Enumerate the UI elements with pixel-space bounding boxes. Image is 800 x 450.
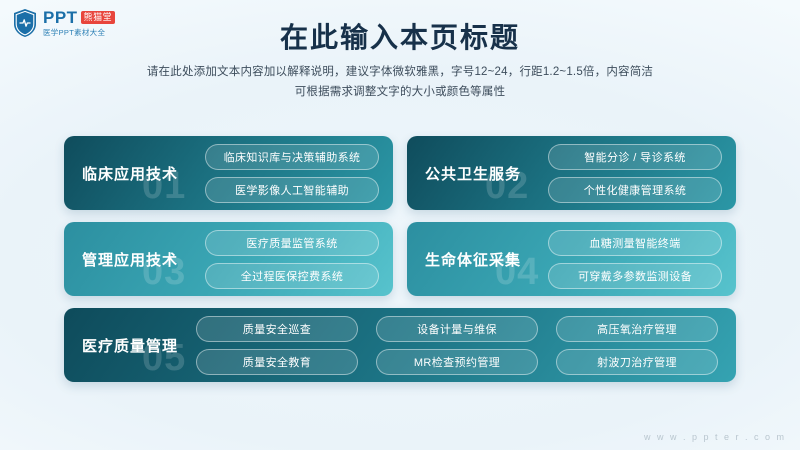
card-title: 公共卫生服务 <box>425 163 521 184</box>
pill-item[interactable]: 个性化健康管理系统 <box>548 177 722 203</box>
pill-item[interactable]: 临床知识库与决策辅助系统 <box>205 144 379 170</box>
card-row: 01 临床应用技术 临床知识库与决策辅助系统 医学影像人工智能辅助 02 公共卫… <box>64 136 736 210</box>
pill-item[interactable]: 设备计量与维保 <box>376 316 538 342</box>
pill-group: 智能分诊 / 导诊系统 个性化健康管理系统 <box>531 144 722 203</box>
pill-item[interactable]: 高压氧治疗管理 <box>556 316 718 342</box>
pill-item[interactable]: 质量安全教育 <box>196 349 358 375</box>
pill-column: 设备计量与维保 MR检查预约管理 <box>376 316 538 375</box>
card-03[interactable]: 03 管理应用技术 医疗质量监管系统 全过程医保控费系统 <box>64 222 393 296</box>
card-row: 05 医疗质量管理 质量安全巡查 质量安全教育 设备计量与维保 MR检查预约管理 <box>64 308 736 382</box>
pill-item[interactable]: 医疗质量监管系统 <box>205 230 379 256</box>
pill-item[interactable]: 全过程医保控费系统 <box>205 263 379 289</box>
subtitle-line-2: 可根据需求调整文字的大小或颜色等属性 <box>0 82 800 102</box>
card-title: 管理应用技术 <box>82 249 178 270</box>
page-subtitle: 请在此处添加文本内容加以解释说明，建议字体微软雅黑，字号12~24，行距1.2~… <box>0 62 800 102</box>
card-04[interactable]: 04 生命体征采集 血糖测量智能终端 可穿戴多参数监测设备 <box>407 222 736 296</box>
pill-group: 质量安全巡查 质量安全教育 设备计量与维保 MR检查预约管理 高压氧治疗管理 射… <box>188 316 722 375</box>
page-title: 在此输入本页标题 <box>0 16 800 56</box>
card-title: 医疗质量管理 <box>82 335 178 356</box>
card-title: 生命体征采集 <box>425 249 521 270</box>
pill-item[interactable]: 质量安全巡查 <box>196 316 358 342</box>
pill-group: 医疗质量监管系统 全过程医保控费系统 <box>188 230 379 289</box>
pill-item[interactable]: MR检查预约管理 <box>376 349 538 375</box>
pill-item[interactable]: 可穿戴多参数监测设备 <box>548 263 722 289</box>
pill-group: 临床知识库与决策辅助系统 医学影像人工智能辅助 <box>188 144 379 203</box>
pill-item[interactable]: 血糖测量智能终端 <box>548 230 722 256</box>
pill-group: 血糖测量智能终端 可穿戴多参数监测设备 <box>531 230 722 289</box>
pill-item[interactable]: 射波刀治疗管理 <box>556 349 718 375</box>
card-rows: 01 临床应用技术 临床知识库与决策辅助系统 医学影像人工智能辅助 02 公共卫… <box>64 136 736 394</box>
subtitle-line-1: 请在此处添加文本内容加以解释说明，建议字体微软雅黑，字号12~24，行距1.2~… <box>0 62 800 82</box>
pill-item[interactable]: 医学影像人工智能辅助 <box>205 177 379 203</box>
card-05[interactable]: 05 医疗质量管理 质量安全巡查 质量安全教育 设备计量与维保 MR检查预约管理 <box>64 308 736 382</box>
card-02[interactable]: 02 公共卫生服务 智能分诊 / 导诊系统 个性化健康管理系统 <box>407 136 736 210</box>
card-01[interactable]: 01 临床应用技术 临床知识库与决策辅助系统 医学影像人工智能辅助 <box>64 136 393 210</box>
slide-canvas: PPT 熊猫堂 医学PPT素材大全 在此输入本页标题 请在此处添加文本内容加以解… <box>0 0 800 450</box>
watermark: w w w . p p t e r . c o m <box>644 432 786 442</box>
pill-item[interactable]: 智能分诊 / 导诊系统 <box>548 144 722 170</box>
pill-column: 质量安全巡查 质量安全教育 <box>196 316 358 375</box>
card-title: 临床应用技术 <box>82 163 178 184</box>
card-row: 03 管理应用技术 医疗质量监管系统 全过程医保控费系统 04 生命体征采集 血… <box>64 222 736 296</box>
pill-column: 高压氧治疗管理 射波刀治疗管理 <box>556 316 718 375</box>
